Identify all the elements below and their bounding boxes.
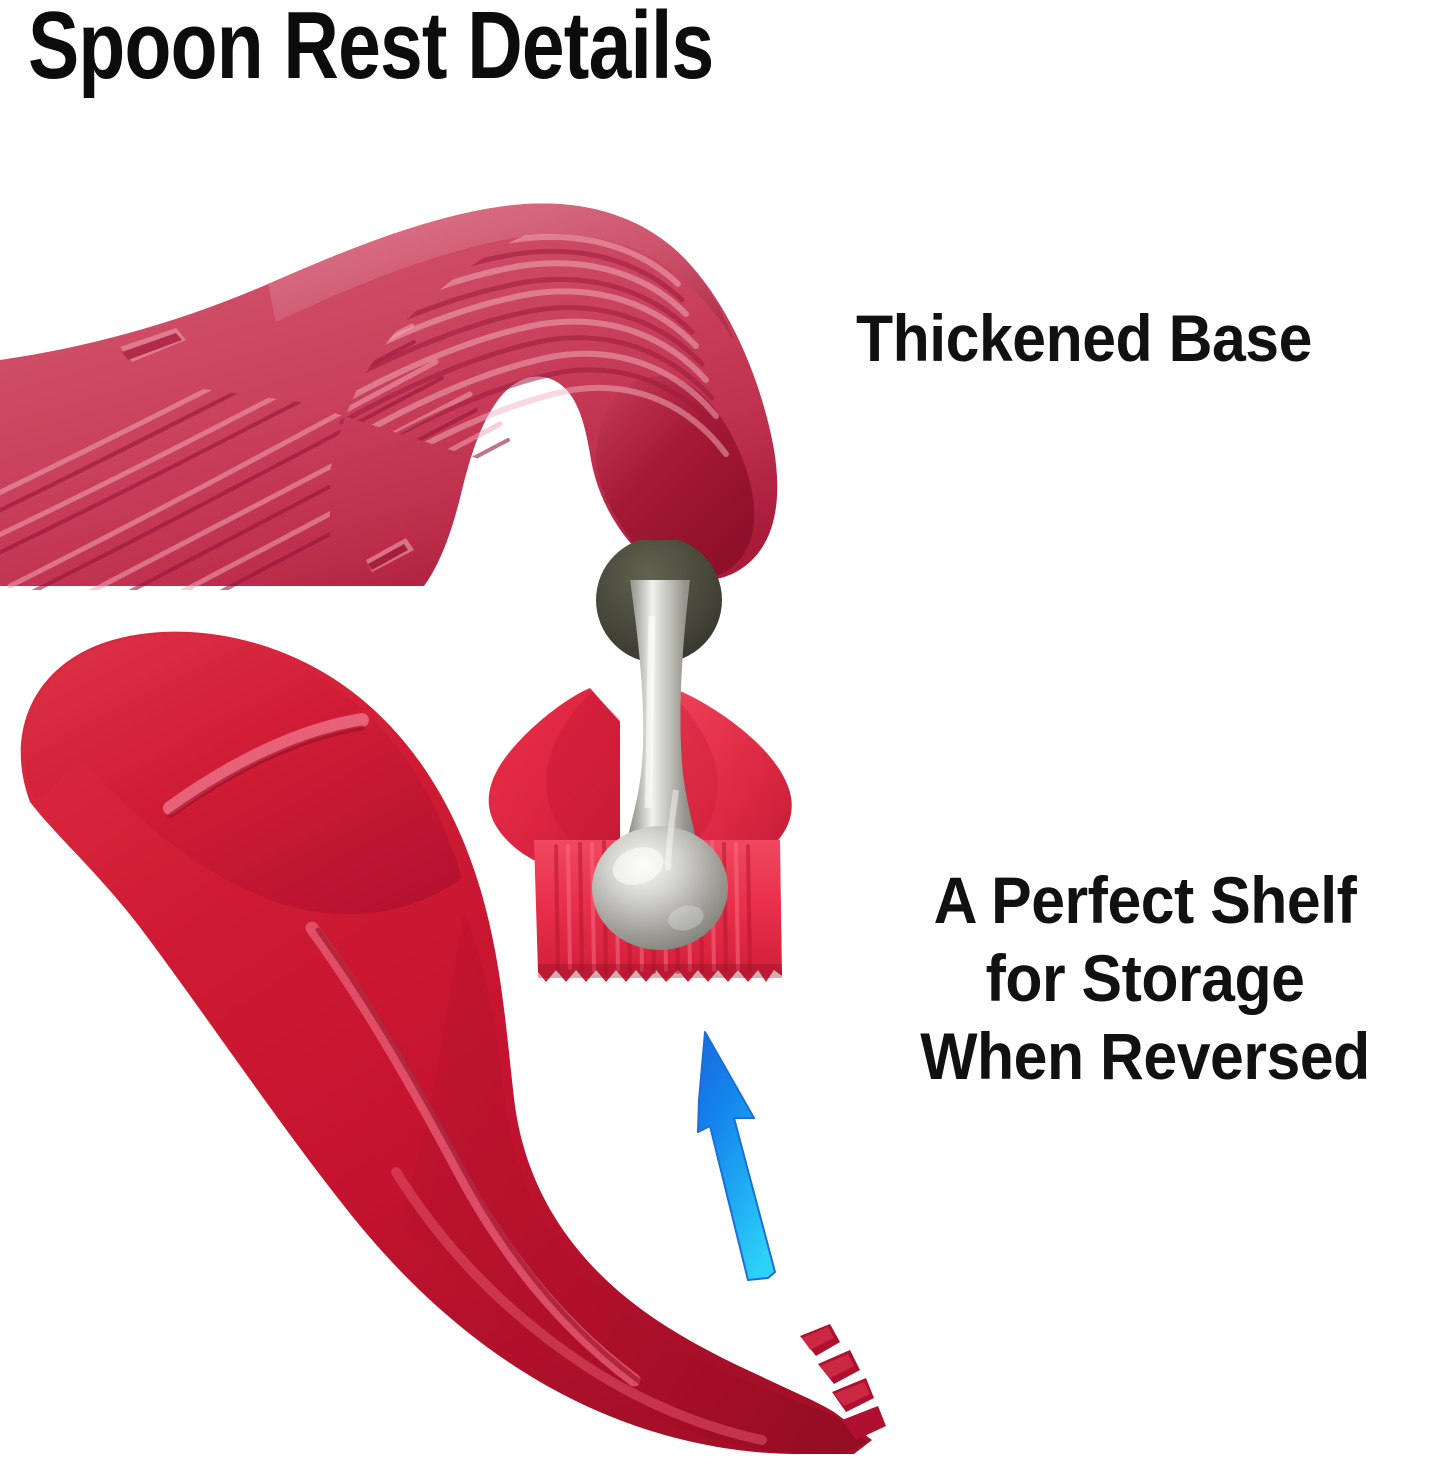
callout-line-2: for Storage <box>869 940 1421 1018</box>
callout-line-3: When Reversed <box>869 1018 1421 1096</box>
infographic-canvas: Spoon Rest Details <box>0 0 1445 1459</box>
callout-thickened-base: Thickened Base <box>856 300 1312 376</box>
reversed-rest-with-ladle-image <box>470 540 860 1045</box>
ribbed-base-profile-image <box>0 172 820 590</box>
page-title: Spoon Rest Details <box>28 0 713 97</box>
callout-line-1: A Perfect Shelf <box>869 862 1421 940</box>
ladle-bowl <box>592 826 728 950</box>
shelf-arrow <box>672 1022 802 1292</box>
callout-perfect-shelf: A Perfect Shelf for Storage When Reverse… <box>869 862 1421 1096</box>
